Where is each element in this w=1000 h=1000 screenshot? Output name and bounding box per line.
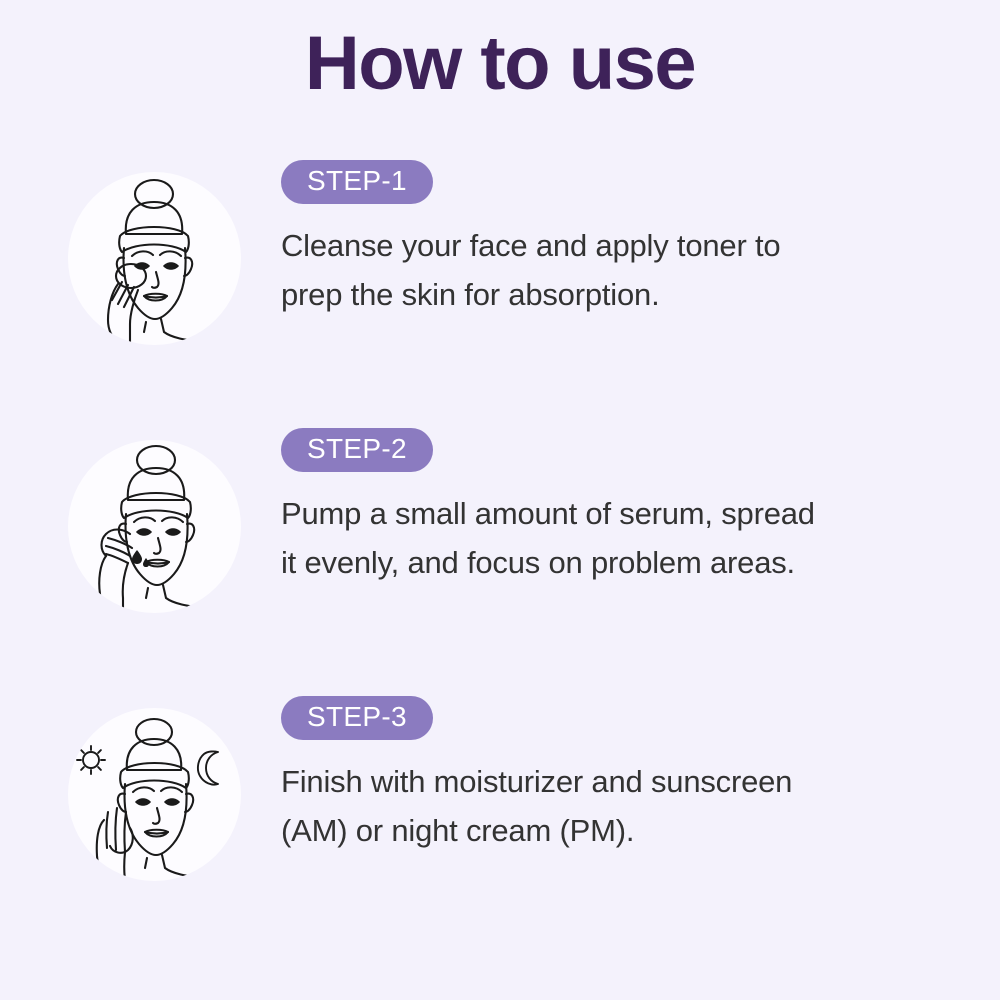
step-2-description-line-1: Pump a small amount of serum, spread bbox=[281, 490, 921, 539]
step-3-illustration bbox=[68, 708, 241, 881]
step-1-description-line-1: Cleanse your face and apply toner to bbox=[281, 222, 921, 271]
page-title: How to use bbox=[0, 22, 1000, 106]
step-1-illustration bbox=[68, 172, 241, 345]
step-1-content: STEP-1 Cleanse your face and apply toner… bbox=[281, 160, 940, 320]
step-1-description: Cleanse your face and apply toner to pre… bbox=[281, 222, 921, 320]
step-3-badge: STEP-3 bbox=[281, 696, 433, 740]
step-row: STEP-3 Finish with moisturizer and sunsc… bbox=[0, 696, 1000, 964]
step-1-description-line-2: prep the skin for absorption. bbox=[281, 271, 921, 320]
step-2-badge: STEP-2 bbox=[281, 428, 433, 472]
woman-applying-cream-with-sun-and-moon-icon bbox=[68, 708, 241, 881]
woman-cleansing-face-with-cotton-pad-icon bbox=[68, 172, 241, 345]
step-2-content: STEP-2 Pump a small amount of serum, spr… bbox=[281, 428, 940, 588]
step-row: STEP-1 Cleanse your face and apply toner… bbox=[0, 160, 1000, 428]
step-row: STEP-2 Pump a small amount of serum, spr… bbox=[0, 428, 1000, 696]
step-3-description-line-1: Finish with moisturizer and sunscreen bbox=[281, 758, 921, 807]
step-1-badge: STEP-1 bbox=[281, 160, 433, 204]
step-3-description: Finish with moisturizer and sunscreen (A… bbox=[281, 758, 921, 856]
step-3-content: STEP-3 Finish with moisturizer and sunsc… bbox=[281, 696, 940, 856]
step-3-description-line-2: (AM) or night cream (PM). bbox=[281, 807, 921, 856]
step-2-illustration bbox=[68, 440, 241, 613]
sun-icon bbox=[77, 746, 105, 774]
step-2-description: Pump a small amount of serum, spread it … bbox=[281, 490, 921, 588]
step-2-description-line-2: it evenly, and focus on problem areas. bbox=[281, 539, 921, 588]
how-to-use-infographic: How to use bbox=[0, 0, 1000, 1000]
moon-icon bbox=[198, 751, 218, 784]
steps-list: STEP-1 Cleanse your face and apply toner… bbox=[0, 160, 1000, 964]
woman-applying-serum-to-cheek-icon bbox=[68, 440, 241, 613]
